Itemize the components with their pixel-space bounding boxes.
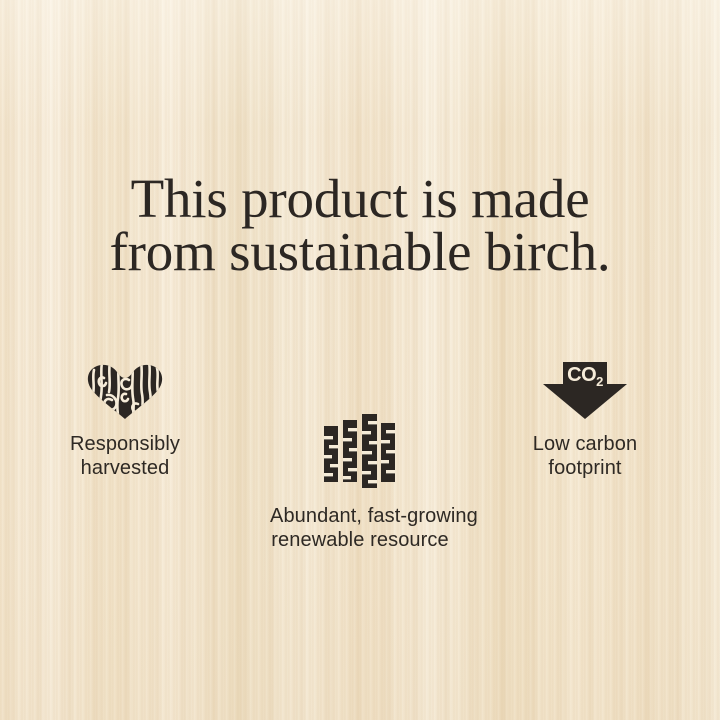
- feature-caption-line-2: harvested: [35, 456, 215, 480]
- feature-renewable-resource: Abundant, fast-growing renewable resourc…: [270, 414, 450, 552]
- feature-caption-line-2: renewable resource: [270, 528, 450, 552]
- headline-line-1: This product is made: [0, 172, 720, 225]
- feature-caption-line-2: footprint: [495, 456, 675, 480]
- feature-icon-slot: CO2: [495, 362, 675, 420]
- feature-responsibly-harvested: Responsibly harvested: [35, 362, 215, 480]
- feature-caption-line-1: Responsibly: [35, 432, 215, 456]
- feature-caption: Low carbon footprint: [495, 432, 675, 480]
- feature-icon-slot: [270, 414, 450, 488]
- headline-line-2: from sustainable birch.: [0, 225, 720, 278]
- feature-caption: Responsibly harvested: [35, 432, 215, 480]
- feature-low-carbon-footprint: CO2 Low carbon footprint: [495, 362, 675, 480]
- birch-panel-background: This product is made from sustainable bi…: [0, 0, 720, 720]
- card-content: This product is made from sustainable bi…: [0, 0, 720, 720]
- co2-down-arrow-icon: CO2: [539, 362, 631, 420]
- birch-trunks-icon: [324, 414, 396, 488]
- feature-caption-line-1: Abundant, fast-growing: [270, 504, 450, 528]
- wood-grain-heart-icon: [86, 364, 164, 420]
- feature-list: Responsibly harvested: [0, 340, 720, 590]
- page-title: This product is made from sustainable bi…: [0, 172, 720, 278]
- feature-caption: Abundant, fast-growing renewable resourc…: [270, 504, 450, 552]
- feature-caption-line-1: Low carbon: [495, 432, 675, 456]
- feature-icon-slot: [35, 362, 215, 420]
